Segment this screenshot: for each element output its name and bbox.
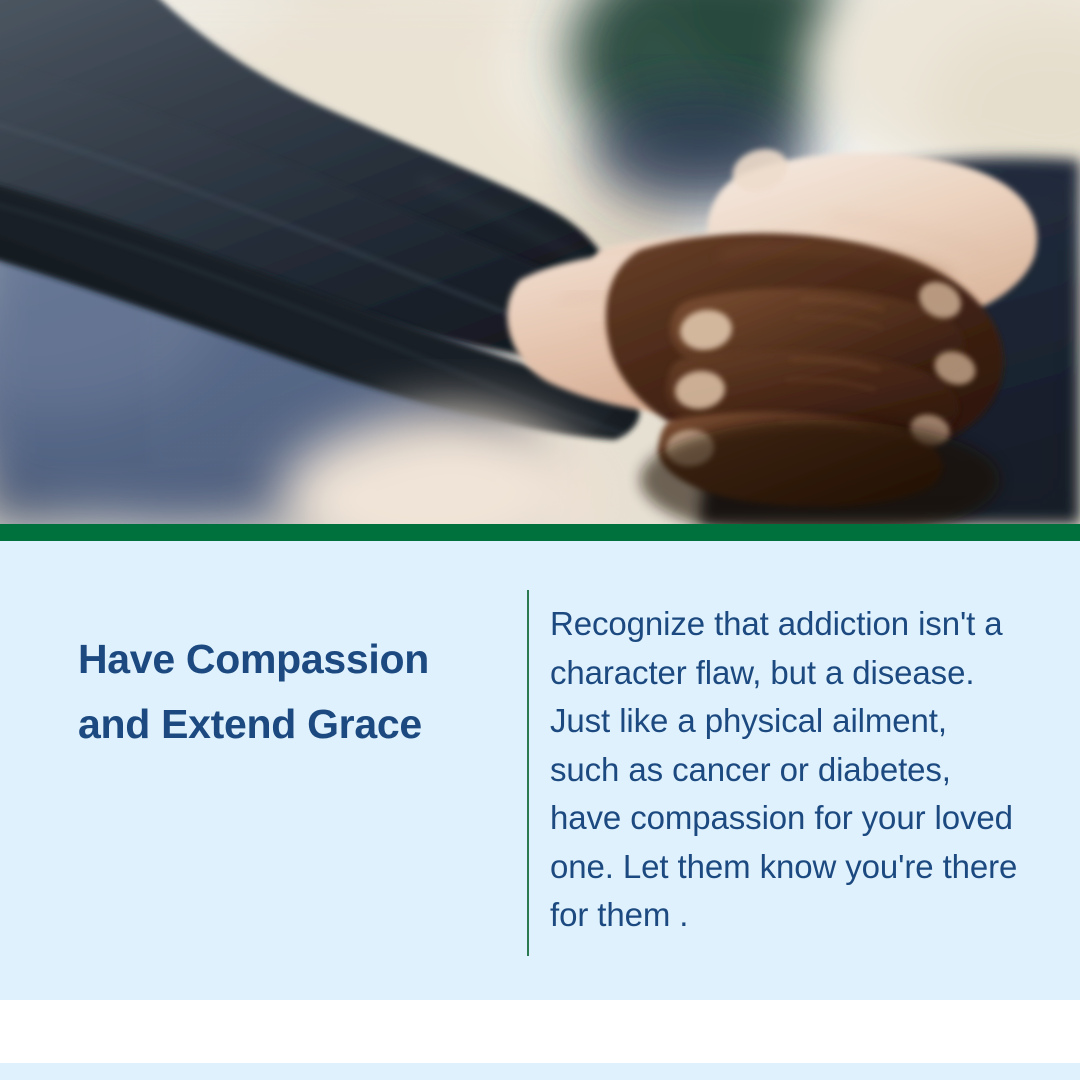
hero-photo: [0, 0, 1080, 524]
body-paragraph: Recognize that addiction isn't a charact…: [550, 600, 1020, 940]
vertical-accent-rule: [527, 590, 529, 956]
bottom-white-band: [0, 1000, 1080, 1063]
page-title: Have Compassion and Extend Grace: [78, 627, 478, 757]
green-divider-bar: [0, 524, 1080, 541]
hero-photo-illustration: [0, 0, 1080, 524]
page-title-line-2: and Extend Grace: [78, 692, 478, 757]
bottom-blue-strip: [0, 1063, 1080, 1080]
page-title-line-1: Have Compassion: [78, 627, 478, 692]
social-media-card: Have Compassion and Extend Grace Recogni…: [0, 0, 1080, 1080]
